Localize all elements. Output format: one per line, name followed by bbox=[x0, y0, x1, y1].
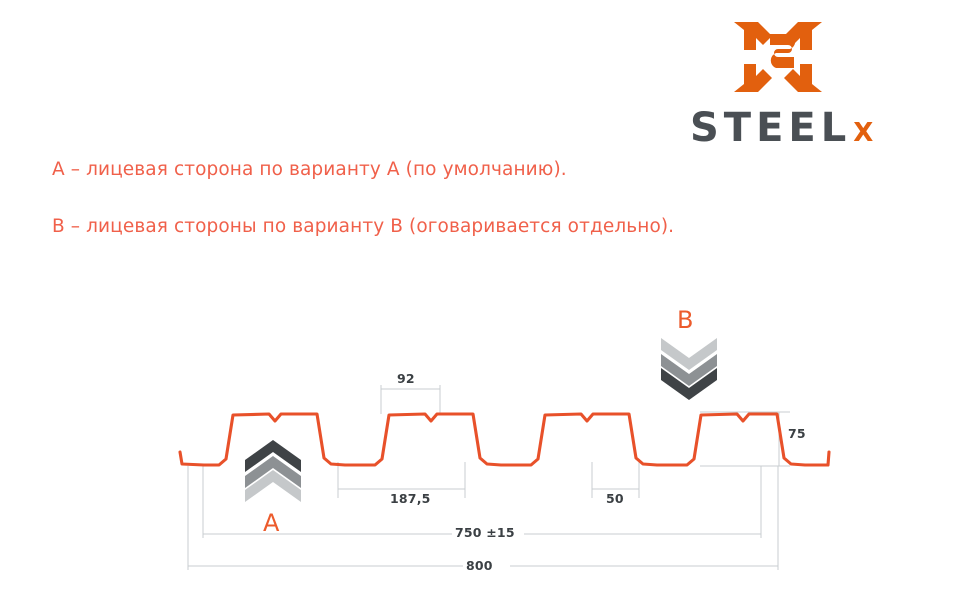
dimension-overall-width: 800 bbox=[466, 558, 493, 573]
technical-drawing bbox=[0, 0, 970, 597]
dimension-profile-height: 75 bbox=[788, 426, 806, 441]
side-marker-a-label: A bbox=[263, 511, 279, 535]
chevron-up-icon bbox=[245, 440, 301, 502]
dimension-rib-pitch: 187,5 bbox=[390, 491, 431, 506]
dimension-useful-width: 750 ±15 bbox=[455, 525, 515, 540]
dimension-valley-width: 50 bbox=[606, 491, 624, 506]
dimension-rib-top-width: 92 bbox=[397, 371, 415, 386]
page-root: STEEL X А – лицевая сторона по варианту … bbox=[0, 0, 970, 597]
side-marker-b-label: B bbox=[677, 308, 693, 332]
profile-cross-section-svg bbox=[0, 0, 970, 597]
chevron-down-icon bbox=[661, 338, 717, 400]
